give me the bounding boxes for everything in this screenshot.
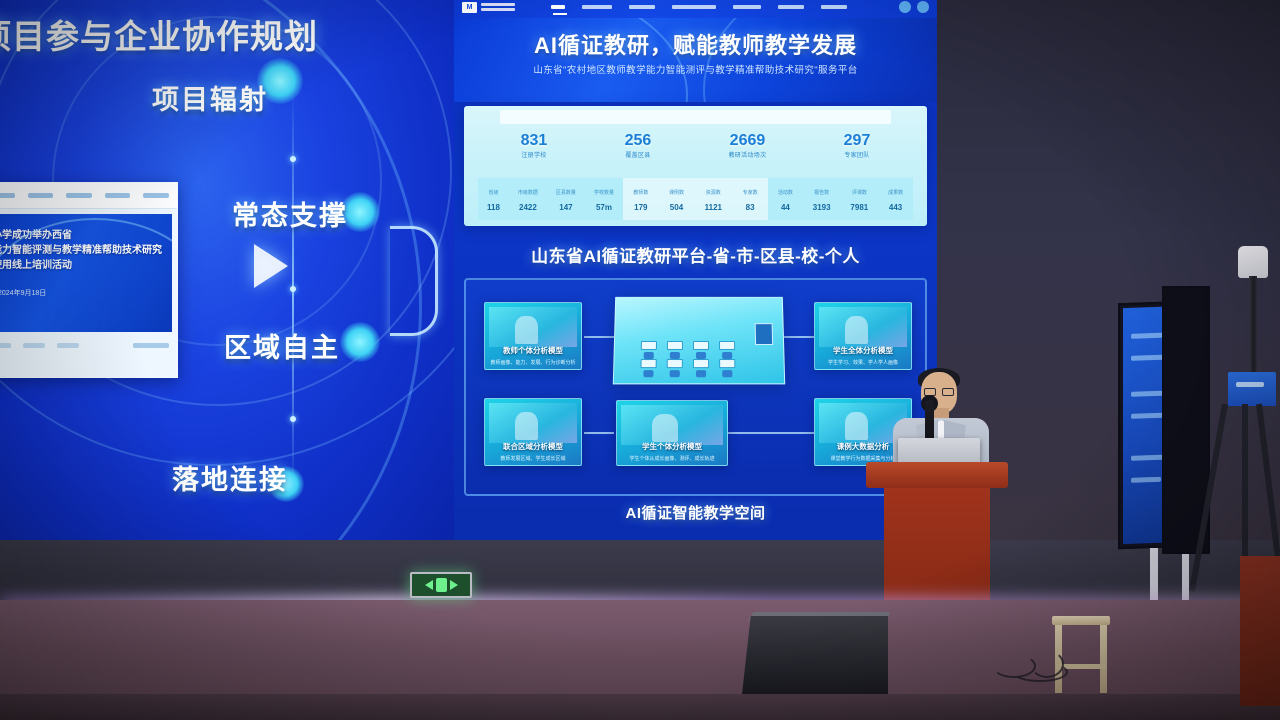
stats-primary-row: 831 注册学校 256 覆盖区县 2669 教研活动场次 297 专家团队 — [464, 132, 927, 159]
stats-cell: 成果数 443 — [888, 190, 903, 215]
model-card-student-individual[interactable]: 学生个体分析模型 学生个体从成长画像、测评、成长轨迹 — [616, 400, 728, 466]
stat-card: 297 专家团队 — [844, 132, 871, 159]
stage-light-head — [1238, 246, 1268, 278]
hook-connector — [390, 226, 438, 336]
user-avatar-icon[interactable] — [917, 1, 929, 13]
slide-left-node-0: 项目辐射 — [152, 78, 268, 117]
embedded-footer — [0, 337, 177, 354]
slide-left-node-3: 落地连接 — [172, 458, 288, 497]
stage-edge — [0, 694, 1280, 720]
card-photo — [489, 307, 577, 347]
stat-label: 教研活动场次 — [729, 150, 767, 159]
nav-item-smart-assessment[interactable] — [672, 5, 716, 9]
nav-item-home[interactable] — [551, 5, 565, 9]
stats-cell: 市级数据 2422 — [518, 190, 538, 215]
floor-cable — [1030, 650, 1064, 678]
stat-value: 297 — [844, 132, 871, 150]
embedded-nav-item — [143, 193, 169, 198]
stats-group: 活动数 44 报告数 3193 评课数 7981 成果数 443 — [768, 178, 913, 220]
nav-item-achievements[interactable] — [778, 5, 804, 9]
embedded-nav-item — [105, 193, 131, 198]
card-label: 联合区域分析模型 — [485, 441, 581, 452]
embedded-nav-item — [28, 193, 54, 198]
stat-card: 831 注册学校 — [521, 132, 548, 159]
nav-item-platform-intro[interactable] — [582, 5, 612, 9]
embedded-webpage-screenshot: 中心小学成功举办西省 教学能力智能评测与教学精准帮助技术研究 平台使用线上培训活… — [0, 182, 178, 378]
slide-right: M AI循证教研，赋能教师教学发展 — [454, 0, 937, 540]
side-red-panel — [1240, 556, 1280, 706]
exit-arrow-left-icon — [425, 580, 433, 590]
chain-dot — [290, 156, 296, 162]
slide-left-title: 项目参与企业协作规划 — [0, 10, 348, 58]
stats-cell: 教师数 179 — [633, 190, 648, 215]
platform-hero: AI循证教研，赋能教师教学发展 山东省"农村地区教师教学能力智能测评与教学精准帮… — [454, 18, 937, 102]
nav-item-contact[interactable] — [821, 5, 847, 9]
nav-item-research-center[interactable] — [629, 5, 655, 9]
stool-seat — [1052, 616, 1110, 625]
stats-cell: 资源数 1121 — [705, 190, 722, 215]
connector — [584, 432, 614, 434]
logo-text — [481, 3, 515, 11]
card-sub: 教师画像、能力、发展、行为诊断分析 — [485, 359, 581, 366]
stat-card: 256 覆盖区县 — [625, 132, 652, 159]
slide-left-node-1: 常态支撑 — [232, 194, 348, 233]
stats-cell: 专家数 83 — [743, 190, 758, 215]
card-sub: 学生个体从成长画像、测评、成长轨迹 — [617, 455, 727, 462]
stat-value: 256 — [625, 132, 652, 150]
stats-cell: 活动数 44 — [778, 190, 793, 215]
platform-hero-subtitle: 山东省"农村地区教师教学能力智能测评与教学精准帮助技术研究"服务平台 — [454, 62, 937, 76]
stats-panel: 831 注册学校 256 覆盖区县 2669 教研活动场次 297 专家团队 — [464, 106, 927, 226]
card-sub: 学生学习、效果、学人学人画像 — [815, 359, 911, 366]
connector — [728, 432, 814, 434]
embedded-hero-title: 中心小学成功举办西省 教学能力智能评测与教学精准帮助技术研究 平台使用线上培训活… — [0, 228, 166, 273]
stat-label: 覆盖区县 — [625, 150, 652, 159]
stats-cell: 评课数 7981 — [850, 190, 868, 215]
stage-scene: 项目参与企业协作规划 项目辐射 常态支撑 区域自主 落地连接 — [0, 0, 1280, 720]
card-photo — [819, 307, 907, 347]
right-arrow-icon — [254, 244, 288, 288]
stat-value: 2669 — [729, 132, 767, 150]
connector — [584, 336, 614, 338]
connector — [784, 336, 814, 338]
exit-arrow-right-icon — [450, 580, 458, 590]
embedded-hero-date: 2024年9月18日 — [0, 288, 46, 298]
card-photo — [489, 403, 577, 443]
stat-label: 专家团队 — [844, 150, 871, 159]
stat-value: 831 — [521, 132, 548, 150]
embedded-footer-item — [57, 343, 79, 348]
node-glow-dot — [340, 322, 380, 362]
card-photo — [621, 405, 723, 445]
card-label: 学生全体分析模型 — [815, 345, 911, 356]
card-sub: 教师发展区域、学生成长区域 — [485, 455, 581, 462]
platform-caption: 山东省AI循证教研平台-省-市-区县-校-个人 — [454, 242, 937, 267]
navbar-icons — [899, 1, 929, 13]
teaching-space-caption: AI循证智能教学空间 — [454, 502, 937, 523]
classroom-3d-illustration — [613, 297, 785, 385]
exit-running-man-icon — [436, 578, 447, 592]
stats-group: 教师数 179 课例数 504 资源数 1121 专家数 83 — [623, 178, 768, 220]
stats-cell: 省级 118 — [487, 190, 500, 215]
slide-left: 项目参与企业协作规划 项目辐射 常态支撑 区域自主 落地连接 — [0, 0, 454, 540]
embedded-nav-item — [0, 193, 15, 198]
embedded-footer-tag — [133, 343, 169, 348]
teaching-space-diagram: 教师个体分析模型 教师画像、能力、发展、行为诊断分析 学生全体分析模型 学生学习… — [464, 278, 927, 496]
chain-dot — [290, 286, 296, 292]
logo-mark: M — [462, 2, 477, 13]
card-label: 教师个体分析模型 — [485, 345, 581, 356]
stats-group: 省级 118 市级数据 2422 区县数量 147 学校数量 57m — [478, 178, 623, 220]
chain-dot — [290, 416, 296, 422]
stat-label: 注册学校 — [521, 150, 548, 159]
model-card-student-group[interactable]: 学生全体分析模型 学生学习、效果、学人学人画像 — [814, 302, 912, 370]
embedded-hero: 中心小学成功举办西省 教学能力智能评测与教学精准帮助技术研究 平台使用线上培训活… — [0, 214, 172, 332]
embedded-footer-item — [0, 343, 11, 348]
platform-nav-menu — [551, 5, 847, 9]
stats-cell: 课例数 504 — [669, 190, 684, 215]
podium-top — [866, 462, 1008, 488]
stat-card: 2669 教研活动场次 — [729, 132, 767, 159]
tripod-column — [1249, 276, 1257, 378]
platform-navbar: M — [454, 0, 937, 18]
model-card-regional[interactable]: 联合区域分析模型 教师发展区域、学生成长区域 — [484, 398, 582, 466]
stage-monitor-speaker — [742, 616, 888, 694]
tripod-equipment-box — [1228, 372, 1276, 406]
embedded-nav — [0, 183, 177, 209]
platform-logo[interactable]: M — [462, 2, 515, 13]
nav-item-topic-training[interactable] — [733, 5, 761, 9]
card-label: 学生个体分析模型 — [617, 441, 727, 452]
emergency-exit-sign — [410, 572, 472, 598]
search-icon[interactable] — [899, 1, 911, 13]
led-screen: 项目参与企业协作规划 项目辐射 常态支撑 区域自主 落地连接 — [0, 0, 937, 540]
platform-hero-title: AI循证教研，赋能教师教学发展 — [454, 28, 937, 60]
stats-secondary-row: 省级 118 市级数据 2422 区县数量 147 学校数量 57m — [478, 178, 913, 220]
stats-cell: 学校数量 57m — [594, 190, 614, 215]
model-card-teacher-individual[interactable]: 教师个体分析模型 教师画像、能力、发展、行为诊断分析 — [484, 302, 582, 370]
embedded-nav-item — [66, 193, 92, 198]
slide-left-node-2: 区域自主 — [224, 326, 340, 365]
stats-panel-headline — [500, 110, 891, 124]
stats-cell: 区县数量 147 — [556, 190, 576, 215]
stats-cell: 报告数 3193 — [813, 190, 831, 215]
embedded-footer-item — [23, 343, 45, 348]
